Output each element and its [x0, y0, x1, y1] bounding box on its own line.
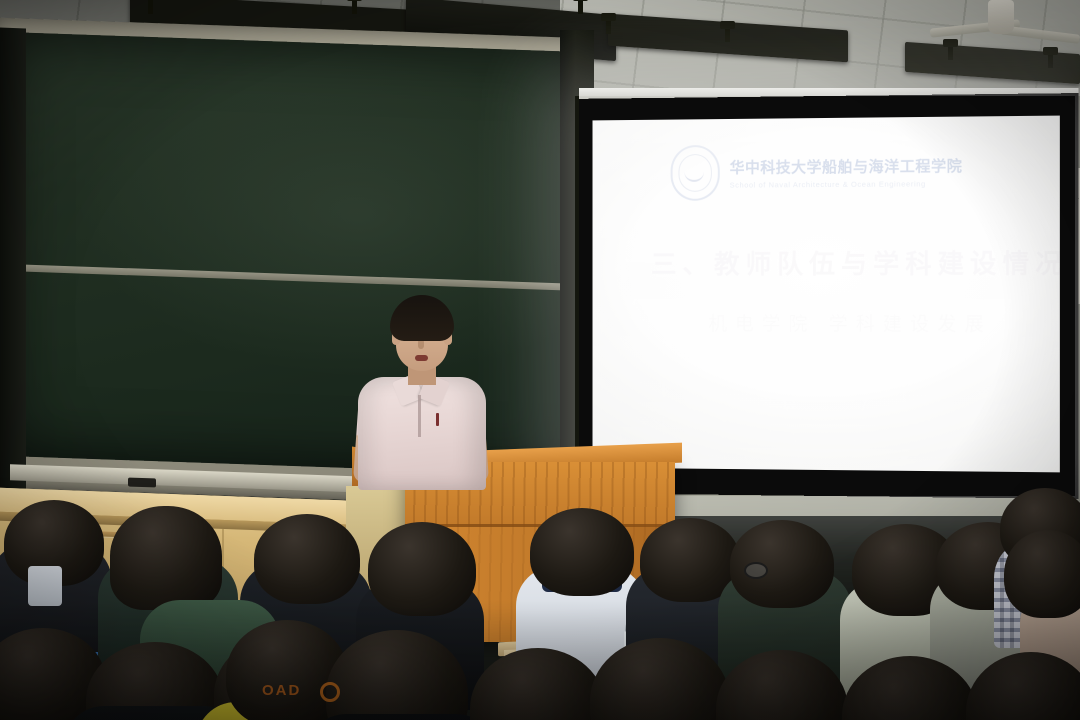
- audience-person-body: [306, 714, 496, 720]
- audience-shirt-text: OAD: [262, 682, 301, 699]
- slide-body: 三、教师队伍与学科建设情况 机电学院 学科建设发展: [651, 243, 1052, 336]
- slide-org-name-en: School of Naval Architecture & Ocean Eng…: [730, 179, 963, 190]
- ceiling-fan-icon: [988, 0, 1014, 34]
- light-hanger-rod: [1048, 52, 1053, 68]
- shirt-logo-icon: [320, 682, 340, 702]
- audience-person-head: [1004, 530, 1080, 618]
- audience-person-head: [530, 508, 634, 596]
- light-hanger-rod: [606, 18, 611, 34]
- light-hanger-rod: [352, 0, 357, 14]
- blackboard-left-edge: [0, 28, 26, 499]
- audience-person-collar: [28, 566, 62, 606]
- light-hanger-rod: [948, 44, 953, 60]
- presenter: [352, 295, 492, 490]
- audience: OAD: [0, 470, 1080, 720]
- projection-screen: 华中科技大学船舶与海洋工程学院 School of Naval Architec…: [593, 116, 1060, 473]
- presenter-mouth: [415, 355, 428, 361]
- pen-icon: [436, 413, 439, 426]
- slide-org-name-cn: 华中科技大学船舶与海洋工程学院: [730, 154, 963, 177]
- lecture-hall-photo: 华中科技大学船舶与海洋工程学院 School of Naval Architec…: [0, 0, 1080, 720]
- slide-subheading: 机电学院 学科建设发展: [651, 309, 1052, 337]
- light-hanger-rod: [578, 0, 583, 14]
- audience-person-head: [110, 506, 222, 610]
- presenter-hair: [390, 295, 454, 341]
- projection-screen-frame: 华中科技大学船舶与海洋工程学院 School of Naval Architec…: [579, 93, 1078, 499]
- slide-header: 华中科技大学船舶与海洋工程学院 School of Naval Architec…: [671, 143, 963, 201]
- slide-content: 华中科技大学船舶与海洋工程学院 School of Naval Architec…: [593, 116, 1060, 473]
- light-hanger-rod: [148, 0, 153, 14]
- slide-heading: 三、教师队伍与学科建设情况: [651, 243, 1052, 281]
- audience-person-head: [730, 520, 834, 608]
- blackboard-frame: [0, 18, 594, 509]
- university-seal-icon: [671, 145, 720, 201]
- eyeglasses-icon: [744, 562, 768, 579]
- light-hanger-rod: [725, 26, 730, 42]
- presenter-shirt-placket: [418, 395, 421, 437]
- audience-person-head: [254, 514, 360, 604]
- audience-person-head: [368, 522, 476, 616]
